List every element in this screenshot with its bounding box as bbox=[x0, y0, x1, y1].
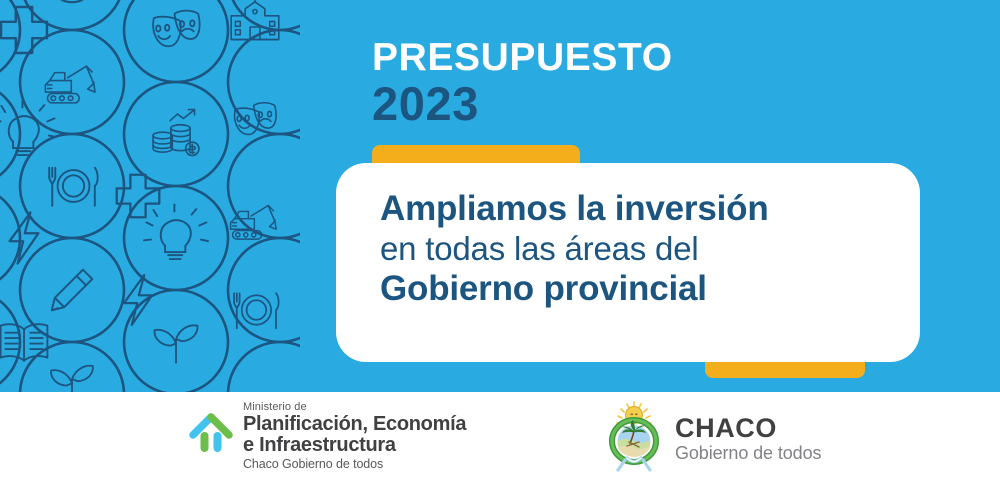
headline-year: 2023 bbox=[372, 80, 673, 127]
headline-presupuesto: PRESUPUESTO bbox=[372, 38, 673, 77]
chaco-name: CHACO bbox=[675, 414, 821, 442]
message-card-text: Ampliamos la inversión en todas las área… bbox=[380, 189, 769, 309]
card-line-2: en todas las áreas del bbox=[380, 230, 769, 269]
chaco-logo: CHACO Gobierno de todos bbox=[605, 400, 821, 477]
ministry-name-line-2: e Infraestructura bbox=[243, 435, 466, 457]
chaco-coat-of-arms-icon bbox=[605, 400, 663, 477]
ministry-logo-text: Ministerio de Planificación, Economía e … bbox=[243, 402, 466, 472]
ministry-logo: Ministerio de Planificación, Economía e … bbox=[188, 402, 466, 472]
banner-headline: PRESUPUESTO 2023 bbox=[372, 38, 673, 127]
icon-pattern-panel bbox=[0, 0, 300, 392]
banner-blue-background: PRESUPUESTO 2023 Ampliamos la inversión … bbox=[0, 0, 1000, 392]
message-card: Ampliamos la inversión en todas las área… bbox=[336, 163, 920, 362]
presupuesto-2023-banner: PRESUPUESTO 2023 Ampliamos la inversión … bbox=[0, 0, 1000, 488]
ministry-name-line-1: Planificación, Economía bbox=[243, 414, 466, 436]
card-line-3: Gobierno provincial bbox=[380, 269, 769, 310]
chaco-slogan: Gobierno de todos bbox=[675, 444, 821, 463]
card-line-1: Ampliamos la inversión bbox=[380, 189, 769, 230]
house-arrow-icon bbox=[188, 410, 234, 463]
banner-footer: Ministerio de Planificación, Economía e … bbox=[0, 392, 1000, 488]
ministry-subtitle: Chaco Gobierno de todos bbox=[243, 458, 466, 472]
chaco-logo-text: CHACO Gobierno de todos bbox=[675, 414, 821, 462]
